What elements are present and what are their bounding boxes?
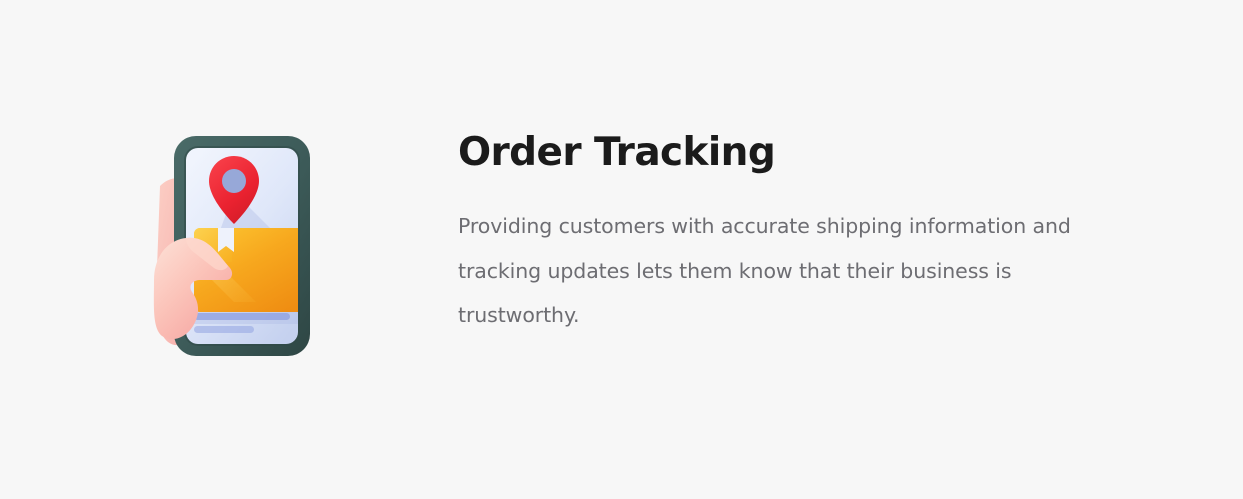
feature-text-block: Order Tracking Providing customers with … (458, 130, 1158, 338)
hand-holding-phone-order-tracking-illustration (148, 128, 348, 368)
feature-description: Providing customers with accurate shippi… (458, 176, 1136, 338)
map-pin-center (222, 169, 246, 193)
order-tracking-feature-card: Order Tracking Providing customers with … (0, 0, 1243, 499)
page-title: Order Tracking (458, 130, 1158, 176)
